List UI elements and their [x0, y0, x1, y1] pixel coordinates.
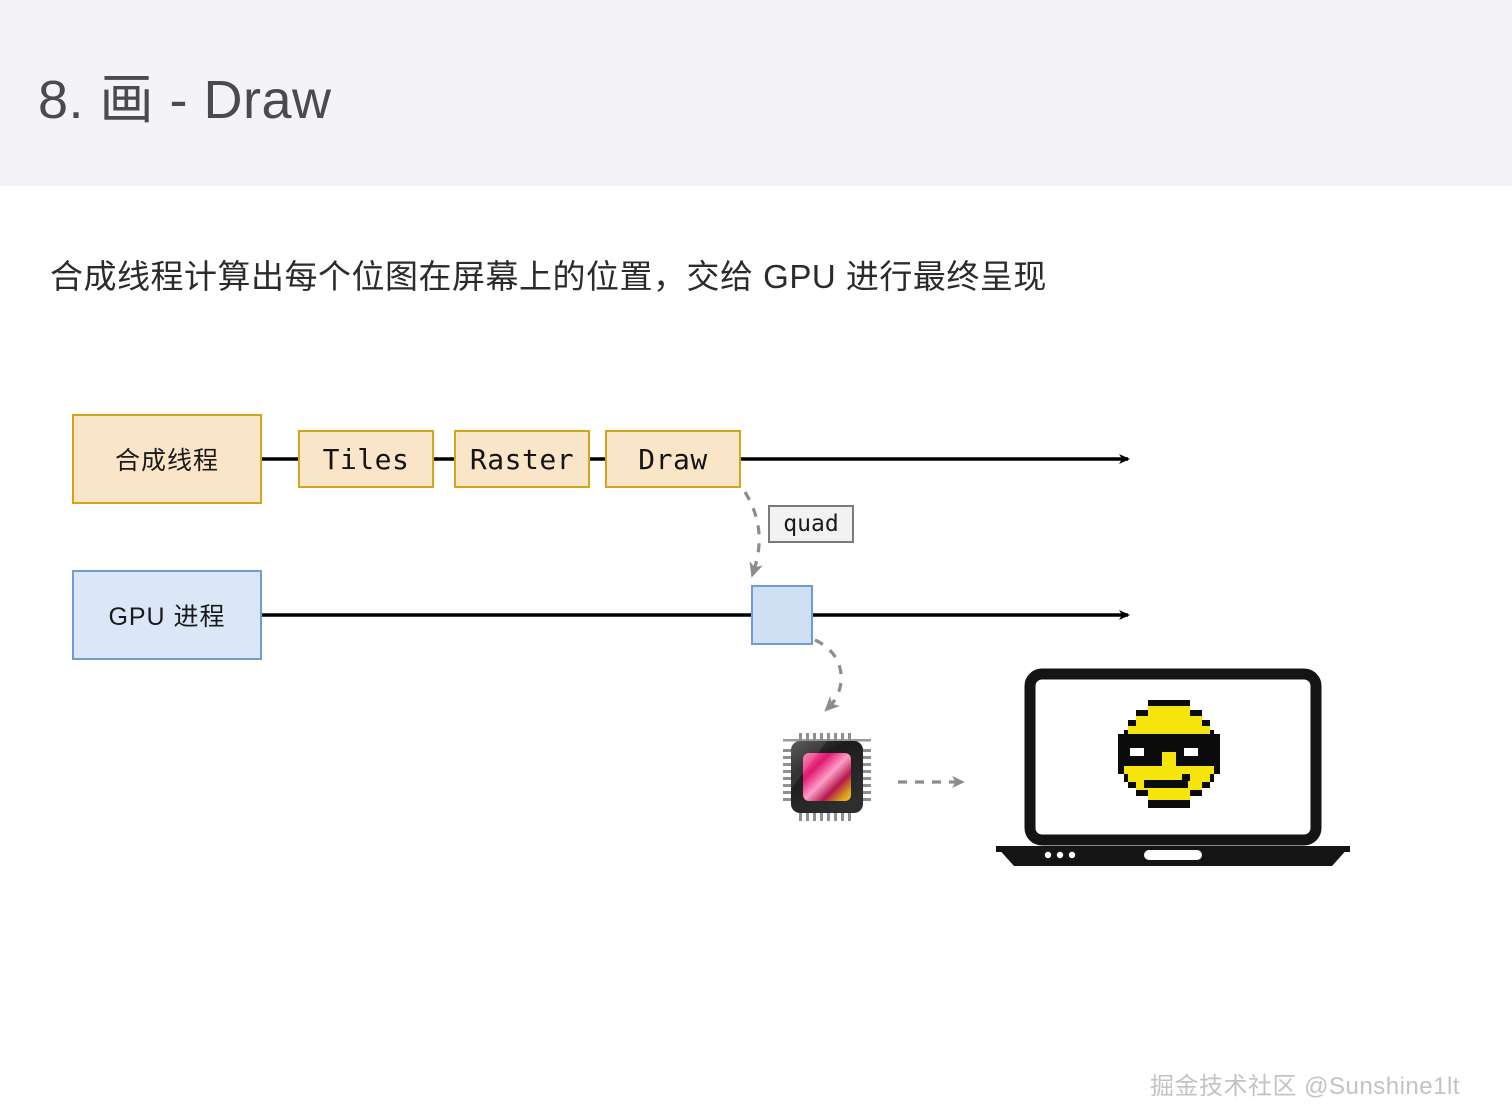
slide-root: 8. 画 - Draw 合成线程计算出每个位图在屏幕上的位置，交给 GPU 进行…: [0, 0, 1512, 1119]
stage-label-raster: Raster: [470, 443, 574, 476]
quad-label-box[interactable]: quad: [768, 505, 854, 543]
gpu-process-label: GPU 进程: [108, 597, 225, 633]
gpu-process-box[interactable]: GPU 进程: [72, 570, 262, 660]
quad-to-chip-connector: [815, 640, 841, 706]
quad-square-marker[interactable]: [751, 585, 813, 645]
computer-chip-icon: [783, 733, 871, 821]
stage-label-draw: Draw: [638, 443, 707, 476]
stage-box-tiles[interactable]: Tiles: [298, 430, 434, 488]
draw-to-quad-connector: [745, 492, 759, 570]
slide-subtitle: 合成线程计算出每个位图在屏幕上的位置，交给 GPU 进行最终呈现: [50, 250, 1047, 298]
compositor-thread-box[interactable]: 合成线程: [72, 414, 262, 504]
watermark: 掘金技术社区 @Sunshine1lt: [1150, 1066, 1460, 1101]
stage-label-tiles: Tiles: [323, 443, 410, 476]
stage-box-raster[interactable]: Raster: [454, 430, 590, 488]
laptop-icon: [996, 674, 1350, 866]
compositor-thread-label: 合成线程: [115, 441, 219, 477]
stage-box-draw[interactable]: Draw: [605, 430, 741, 488]
quad-label-text: quad: [783, 511, 838, 537]
page-title: 8. 画 - Draw: [38, 55, 332, 134]
